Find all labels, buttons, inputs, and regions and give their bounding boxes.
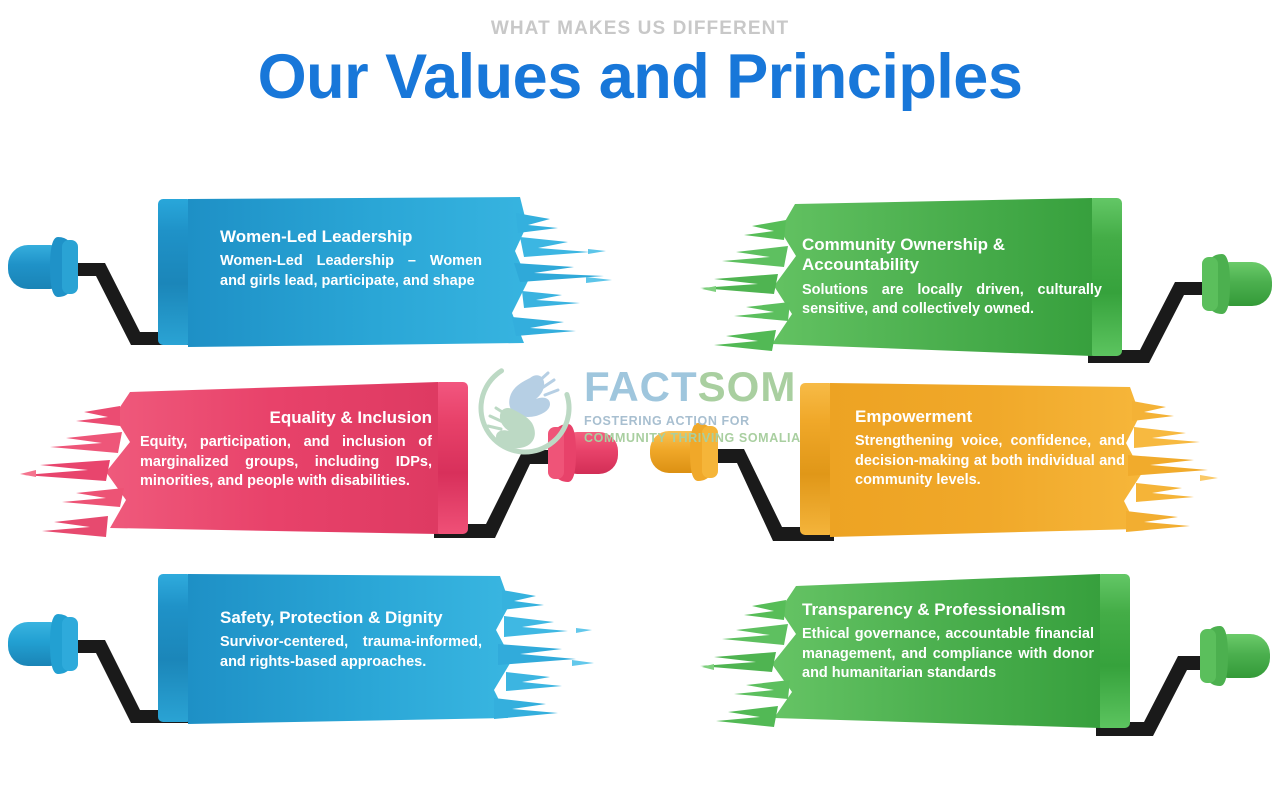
card-title: Equality & Inclusion <box>140 408 432 428</box>
card-text-block: Community Ownership & Accountability Sol… <box>802 235 1102 319</box>
logo-name-part2: SOM <box>698 363 797 410</box>
card-title: Safety, Protection & Dignity <box>220 608 482 628</box>
card-text-block: Women-Led Leadership Women-Led Leadershi… <box>220 227 482 291</box>
hands-circle-icon <box>472 358 578 458</box>
card-body: Survivor-centered, trauma-informed, and … <box>220 633 482 671</box>
card-body: Ethical governance, accountable financia… <box>802 625 1094 682</box>
value-card-safety-protection-dignity: Safety, Protection & Dignity Survivor-ce… <box>0 560 640 745</box>
card-title: Transparency & Professionalism <box>802 600 1094 620</box>
infographic-canvas: WHAT MAKES US DIFFERENT Our Values and P… <box>0 0 1280 800</box>
value-card-women-led-leadership: Women-Led Leadership Women-Led Leadershi… <box>0 185 640 370</box>
factsom-logo: FACTSOM FOSTERING ACTION FOR COMMUNITY T… <box>472 358 812 458</box>
card-body: Strengthening voice, confidence, and dec… <box>855 432 1125 489</box>
card-title: Empowerment <box>855 407 1125 427</box>
card-body: Solutions are locally driven, culturally… <box>802 281 1102 319</box>
card-text-block: Safety, Protection & Dignity Survivor-ce… <box>220 608 482 672</box>
card-text-block: Transparency & Professionalism Ethical g… <box>802 600 1094 683</box>
logo-name: FACTSOM <box>584 366 801 408</box>
logo-tagline-line1: FOSTERING ACTION FOR <box>584 413 801 430</box>
logo-tagline: FOSTERING ACTION FOR COMMUNITY THRIVING … <box>584 413 801 447</box>
logo-name-part1: FACT <box>584 363 698 410</box>
value-card-community-ownership-accountability: Community Ownership & Accountability Sol… <box>700 190 1280 370</box>
card-body: Women-Led Leadership – Women and girls l… <box>220 252 482 290</box>
logo-wordmark: FACTSOM FOSTERING ACTION FOR COMMUNITY T… <box>584 366 801 447</box>
card-title: Community Ownership & Accountability <box>802 235 1102 276</box>
card-body: Equity, participation, and inclusion of … <box>140 433 432 490</box>
card-text-block: Equality & Inclusion Equity, participati… <box>140 408 432 491</box>
logo-tagline-line2: COMMUNITY THRIVING SOMALIA <box>584 430 801 447</box>
page-title: Our Values and Principles <box>0 46 1280 109</box>
eyebrow-text: WHAT MAKES US DIFFERENT <box>0 18 1280 40</box>
value-card-transparency-professionalism: Transparency & Professionalism Ethical g… <box>700 560 1280 745</box>
card-title: Women-Led Leadership <box>220 227 482 247</box>
card-text-block: Empowerment Strengthening voice, confide… <box>855 407 1125 490</box>
